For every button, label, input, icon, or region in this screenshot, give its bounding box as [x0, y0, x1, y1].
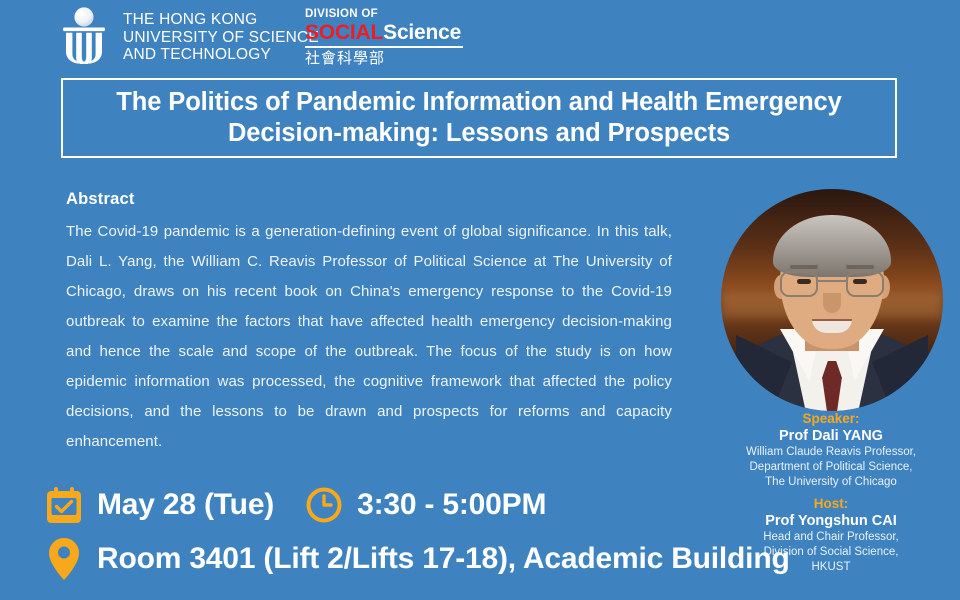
seminar-title: The Politics of Pandemic Information and… — [63, 87, 895, 149]
event-venue-row: Room 3401 (Lift 2/Lifts 17-18), Academic… — [44, 532, 790, 586]
portrait-nose — [823, 293, 841, 313]
map-pin-icon — [44, 536, 84, 582]
speaker-name: Prof Dali YANG — [700, 427, 960, 445]
event-date: May 28 (Tue) — [44, 485, 274, 525]
division-of-social-science-logo: DIVISION OF SOCIALScience 社會科學部 — [305, 8, 463, 68]
hkust-crest-icon — [57, 6, 111, 64]
speaker-portrait — [721, 189, 943, 411]
division-name: SOCIALScience — [305, 21, 463, 45]
event-date-text: May 28 (Tue) — [97, 488, 274, 522]
event-details: May 28 (Tue) 3:30 - 5:00PM Room 3401 (Li… — [44, 478, 790, 586]
event-time-text: 3:30 - 5:00PM — [357, 488, 546, 522]
seminar-poster: THE HONG KONG UNIVERSITY OF SCIENCE AND … — [0, 0, 960, 600]
calendar-check-icon — [44, 485, 84, 525]
hkust-logo: THE HONG KONG UNIVERSITY OF SCIENCE AND … — [57, 6, 319, 64]
title-box: The Politics of Pandemic Information and… — [61, 78, 897, 158]
division-name-chinese: 社會科學部 — [305, 50, 463, 68]
division-underline — [305, 46, 463, 48]
speaker-role-label: Speaker: — [700, 410, 960, 427]
event-date-time-row: May 28 (Tue) 3:30 - 5:00PM — [44, 478, 790, 532]
hkust-wordmark-line3: AND TECHNOLOGY — [123, 46, 319, 64]
event-venue-text: Room 3401 (Lift 2/Lifts 17-18), Academic… — [97, 542, 790, 576]
event-time: 3:30 - 5:00PM — [304, 485, 546, 525]
portrait-eyebrow-left — [790, 265, 818, 269]
portrait-glasses-bridge — [818, 280, 846, 282]
abstract-heading: Abstract — [66, 190, 672, 209]
hkust-wordmark-line2: UNIVERSITY OF SCIENCE — [123, 29, 319, 47]
abstract-body: The Covid-19 pandemic is a generation-de… — [66, 217, 672, 457]
portrait-lens-right — [846, 271, 884, 297]
division-name-science: Science — [383, 21, 461, 44]
event-venue: Room 3401 (Lift 2/Lifts 17-18), Academic… — [44, 536, 790, 582]
division-label: DIVISION OF — [305, 8, 463, 21]
abstract-block: Abstract The Covid-19 pandemic is a gene… — [66, 190, 672, 457]
poster-header: THE HONG KONG UNIVERSITY OF SCIENCE AND … — [0, 0, 960, 78]
portrait-eyebrow-right — [846, 265, 874, 269]
clock-icon — [304, 485, 344, 525]
speaker-affiliation-line1: William Claude Reavis Professor, — [700, 445, 960, 460]
hkust-wordmark: THE HONG KONG UNIVERSITY OF SCIENCE AND … — [123, 11, 319, 64]
portrait-lens-left — [780, 271, 818, 297]
division-name-social: SOCIAL — [305, 21, 383, 44]
speaker-affiliation-line2: Department of Political Science, — [700, 460, 960, 475]
hkust-wordmark-line1: THE HONG KONG — [123, 11, 319, 29]
